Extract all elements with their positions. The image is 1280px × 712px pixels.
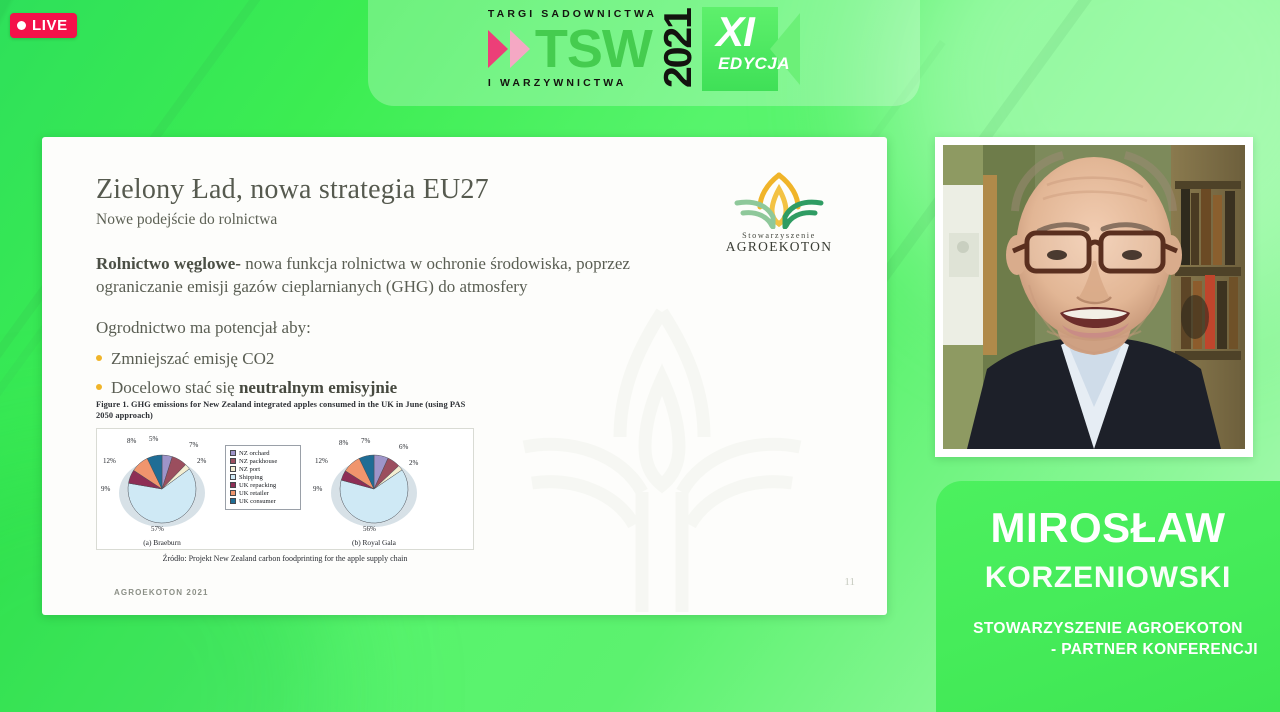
- legend-item: UK retailer: [230, 490, 296, 497]
- pie-chart-braeburn-title: (a) Braeburn: [101, 538, 223, 547]
- legend-label: NZ packhouse: [239, 458, 277, 465]
- tsw-event-logo: TARGI SADOWNICTWA TSW I WARZYWNICTWA 202…: [488, 7, 800, 91]
- legend-label: Shipping: [239, 474, 263, 481]
- bullet-text: Zmniejszać emisję CO2: [111, 349, 274, 368]
- pie-chart-braeburn: 5% 7% 2% 57% 9% 12% 8% (a) Braeburn: [101, 435, 223, 547]
- tsw-wordmark: TSW: [535, 27, 652, 71]
- pie-chart-royal-gala: 7% 6% 2% 56% 9% 12% 8% (b) Royal Gala: [313, 435, 435, 547]
- legend-label: UK repacking: [239, 482, 276, 489]
- legend-item: UK repacking: [230, 482, 296, 489]
- agroekoton-logo: Stowarzyszenie AGROEKOTON: [723, 171, 835, 255]
- list-item: Docelowo stać się neutralnym emisyjnie: [96, 378, 843, 398]
- broadcast-stage: LIVE TARGI SADOWNICTWA TSW I WARZYWNICTW…: [0, 0, 1280, 712]
- bullet-label: Zmniejszać emisję CO2: [111, 349, 274, 369]
- legend-label: UK retailer: [239, 490, 269, 497]
- pie-chart-royal-gala-graphic: [313, 435, 435, 537]
- slide-body: Rolnictwo węglowe- nowa funkcja rolnictw…: [96, 253, 843, 398]
- tsw-edition-arrow-icon: [770, 13, 800, 85]
- slide-content: Zielony Ład, nowa strategia EU27 Nowe po…: [42, 137, 887, 615]
- list-item: Zmniejszać emisję CO2: [96, 349, 843, 369]
- legend-label: NZ port: [239, 466, 260, 473]
- tsw-logo-left: TARGI SADOWNICTWA TSW I WARZYWNICTWA: [488, 7, 657, 91]
- tsw-edition-badge: XI EDYCJA: [702, 7, 800, 91]
- pie-value-label: 5%: [149, 435, 158, 443]
- slide-page-number: 11: [844, 576, 855, 588]
- triangle-pink-light-icon: [510, 30, 530, 68]
- presentation-slide: Zielony Ład, nowa strategia EU27 Nowe po…: [42, 137, 887, 615]
- pie-charts-container: 5% 7% 2% 57% 9% 12% 8% (a) Braeburn NZ o: [96, 428, 474, 550]
- tsw-edition-word: EDYCJA: [718, 55, 790, 72]
- agroekoton-logo-name: AGROEKOTON: [723, 240, 835, 255]
- speaker-webcam-video: [943, 145, 1245, 449]
- tsw-edition-roman: XI: [716, 11, 754, 53]
- pie-value-label: 8%: [339, 439, 348, 447]
- speaker-name-card: MIROSŁAW KORZENIOWSKI STOWARZYSZENIE AGR…: [936, 481, 1280, 712]
- pie-value-label: 12%: [315, 457, 328, 465]
- tsw-wordmark-row: TSW: [488, 27, 657, 71]
- legend-item: NZ port: [230, 466, 296, 473]
- speaker-organization-line-2: - PARTNER KONFERENCJI: [954, 640, 1262, 661]
- bullet-dot-icon: [96, 355, 102, 361]
- figure-ghg-emissions: Figure 1. GHG emissions for New Zealand …: [96, 399, 474, 563]
- legend-item: NZ orchard: [230, 450, 296, 457]
- legend-swatch-uk-consumer: [230, 498, 236, 504]
- live-label: LIVE: [32, 18, 68, 33]
- event-header-band: TARGI SADOWNICTWA TSW I WARZYWNICTWA 202…: [368, 0, 920, 106]
- agroekoton-leaf-icon: [723, 171, 835, 229]
- pie-value-label: 8%: [127, 437, 136, 445]
- pie-value-label: 2%: [197, 457, 206, 465]
- pie-value-label: 57%: [151, 525, 164, 533]
- bullet-text: Docelowo stać się: [111, 378, 239, 397]
- live-dot-icon: [17, 21, 26, 30]
- pie-value-label: 7%: [189, 441, 198, 449]
- pie-value-label: 9%: [101, 485, 110, 493]
- speaker-last-name: KORZENIOWSKI: [954, 563, 1262, 593]
- triangle-pink-dark-icon: [488, 30, 508, 68]
- bullet-dot-icon: [96, 384, 102, 390]
- pie-value-label: 2%: [409, 459, 418, 467]
- pie-value-label: 56%: [363, 525, 376, 533]
- live-badge: LIVE: [10, 13, 77, 38]
- pie-value-label: 9%: [313, 485, 322, 493]
- speaker-first-name: MIROSŁAW: [954, 507, 1262, 549]
- legend-swatch-uk-retailer: [230, 490, 236, 496]
- legend-label: UK consumer: [239, 498, 276, 505]
- pie-chart-royal-gala-title: (b) Royal Gala: [313, 538, 435, 547]
- speaker-organization-line-1: STOWARZYSZENIE AGROEKOTON: [954, 619, 1262, 640]
- legend-swatch-shipping: [230, 474, 236, 480]
- pie-value-label: 12%: [103, 457, 116, 465]
- slide-footer: AGROEKOTON 2021: [114, 588, 209, 597]
- tsw-kicker-bottom: I WARZYWNICTWA: [488, 78, 657, 89]
- bullet-label: Docelowo stać się neutralnym emisyjnie: [111, 378, 397, 398]
- speaker-video-image: [943, 145, 1245, 449]
- legend-swatch-nz-packhouse: [230, 458, 236, 464]
- figure-source: Źródło: Projekt New Zealand carbon foodp…: [96, 554, 474, 563]
- pie-value-label: 7%: [361, 437, 370, 445]
- pie-chart-braeburn-graphic: [101, 435, 223, 537]
- legend-swatch-nz-port: [230, 466, 236, 472]
- slide-paragraph-lead: Rolnictwo węglowe-: [96, 254, 241, 273]
- legend-label: NZ orchard: [239, 450, 270, 457]
- slide-paragraph: Rolnictwo węglowe- nowa funkcja rolnictw…: [96, 253, 706, 299]
- legend-item: Shipping: [230, 474, 296, 481]
- speaker-webcam-frame: [935, 137, 1253, 457]
- pie-value-label: 6%: [399, 443, 408, 451]
- legend-swatch-nz-orchard: [230, 450, 236, 456]
- slide-lead-in: Ogrodnictwo ma potencjał aby:: [96, 317, 706, 340]
- pie-chart-legend: NZ orchard NZ packhouse NZ port Shi: [225, 445, 301, 510]
- legend-item: UK consumer: [230, 498, 296, 505]
- tsw-kicker-top: TARGI SADOWNICTWA: [488, 9, 657, 20]
- legend-item: NZ packhouse: [230, 458, 296, 465]
- tsw-year: 2021: [659, 7, 698, 91]
- legend-swatch-uk-repacking: [230, 482, 236, 488]
- bullet-text-bold: neutralnym emisyjnie: [239, 378, 397, 397]
- figure-caption: Figure 1. GHG emissions for New Zealand …: [96, 399, 474, 422]
